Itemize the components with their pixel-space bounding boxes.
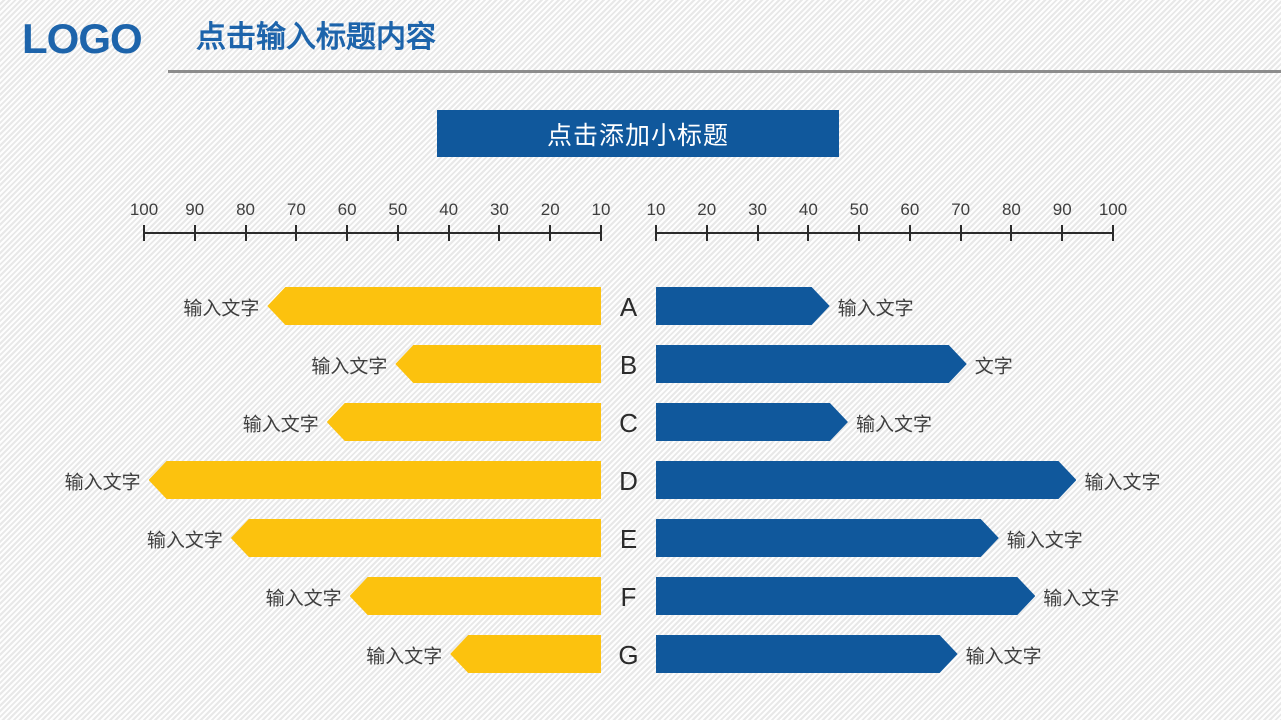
chart-row: 输入文字F输入文字: [0, 568, 1281, 626]
chart-row: 输入文字A输入文字: [0, 278, 1281, 336]
bar-left[interactable]: [395, 345, 601, 383]
subtitle-banner[interactable]: 点击添加小标题: [437, 110, 839, 157]
category-letter: F: [601, 568, 656, 626]
bar-right-label: 输入文字: [1007, 526, 1083, 553]
bar-right[interactable]: [656, 345, 967, 383]
left-axis-line: [144, 232, 601, 234]
row-right-side: 输入文字: [656, 394, 1281, 452]
row-left-side: 输入文字: [0, 510, 601, 568]
left-axis-tick-label: 60: [338, 200, 357, 220]
bar-right[interactable]: [656, 577, 1035, 615]
row-right-side: 输入文字: [656, 452, 1281, 510]
right-axis-tick: [909, 225, 911, 241]
right-axis-tick-label: 90: [1053, 200, 1072, 220]
chart-row: 输入文字E输入文字: [0, 510, 1281, 568]
bar-right-label: 输入文字: [966, 642, 1042, 669]
page-title: 点击输入标题内容: [196, 20, 436, 56]
left-axis: 100908070605040302010: [144, 200, 601, 245]
row-left-side: 输入文字: [0, 278, 601, 336]
right-axis-tick: [1010, 225, 1012, 241]
subtitle-banner-label: 点击添加小标题: [547, 116, 729, 152]
right-axis-tick: [655, 225, 657, 241]
bar-left[interactable]: [231, 519, 601, 557]
bar-left-label: 输入文字: [266, 584, 342, 611]
row-right-side: 输入文字: [656, 278, 1281, 336]
page-header: LOGO 点击输入标题内容: [0, 0, 1281, 80]
left-axis-tick: [600, 225, 602, 241]
bar-right[interactable]: [656, 635, 958, 673]
left-axis-tick-label: 30: [490, 200, 509, 220]
bar-right-label: 文字: [975, 352, 1013, 379]
bar-right[interactable]: [656, 461, 1076, 499]
category-letter: G: [601, 626, 656, 684]
right-axis-tick-label: 60: [900, 200, 919, 220]
chart-row: 输入文字B文字: [0, 336, 1281, 394]
right-axis-line: [656, 232, 1113, 234]
left-axis-tick: [194, 225, 196, 241]
left-axis-tick-label: 20: [541, 200, 560, 220]
bar-right[interactable]: [656, 287, 830, 325]
left-axis-tick: [397, 225, 399, 241]
bar-right-label: 输入文字: [1084, 468, 1160, 495]
left-axis-tick-label: 80: [236, 200, 255, 220]
bar-left-label: 输入文字: [311, 352, 387, 379]
category-letter: C: [601, 394, 656, 452]
bar-left[interactable]: [327, 403, 601, 441]
row-left-side: 输入文字: [0, 452, 601, 510]
row-right-side: 输入文字: [656, 568, 1281, 626]
bar-right[interactable]: [656, 403, 848, 441]
bar-left[interactable]: [350, 577, 601, 615]
tornado-chart-rows: 输入文字A输入文字输入文字B文字输入文字C输入文字输入文字D输入文字输入文字E输…: [0, 278, 1281, 684]
left-axis-labels: 100908070605040302010: [144, 200, 601, 224]
right-axis-tick-label: 40: [799, 200, 818, 220]
row-left-side: 输入文字: [0, 626, 601, 684]
right-axis-tick: [1061, 225, 1063, 241]
chart-row: 输入文字G输入文字: [0, 626, 1281, 684]
bar-right-label: 输入文字: [856, 410, 932, 437]
left-axis-tick-label: 100: [130, 200, 158, 220]
right-axis-tick: [807, 225, 809, 241]
right-axis-tick: [706, 225, 708, 241]
chart-row: 输入文字D输入文字: [0, 452, 1281, 510]
left-axis-tick: [498, 225, 500, 241]
category-letter: A: [601, 278, 656, 336]
left-axis-tick: [295, 225, 297, 241]
right-axis-tick: [960, 225, 962, 241]
bar-left[interactable]: [267, 287, 601, 325]
category-letter: B: [601, 336, 656, 394]
right-axis-tick-label: 30: [748, 200, 767, 220]
left-axis-tick: [549, 225, 551, 241]
right-axis-tick-label: 50: [850, 200, 869, 220]
bar-left-label: 输入文字: [243, 410, 319, 437]
left-axis-tick: [346, 225, 348, 241]
bar-right-label: 输入文字: [838, 294, 914, 321]
bar-right-label: 输入文字: [1043, 584, 1119, 611]
right-axis-tick-label: 20: [697, 200, 716, 220]
bar-right[interactable]: [656, 519, 999, 557]
bar-left[interactable]: [149, 461, 601, 499]
left-axis-tick-label: 10: [592, 200, 611, 220]
right-axis-tick-label: 70: [951, 200, 970, 220]
left-axis-tick: [245, 225, 247, 241]
bar-left-label: 输入文字: [366, 642, 442, 669]
right-axis-tick: [858, 225, 860, 241]
left-axis-tick-label: 40: [439, 200, 458, 220]
right-axis-tick-label: 100: [1099, 200, 1127, 220]
category-letter: E: [601, 510, 656, 568]
category-letter: D: [601, 452, 656, 510]
bar-left-label: 输入文字: [183, 294, 259, 321]
row-right-side: 输入文字: [656, 510, 1281, 568]
row-left-side: 输入文字: [0, 394, 601, 452]
left-axis-tick-label: 90: [185, 200, 204, 220]
row-left-side: 输入文字: [0, 568, 601, 626]
right-axis: 102030405060708090100: [656, 200, 1113, 245]
right-axis-labels: 102030405060708090100: [656, 200, 1113, 224]
left-axis-tick-label: 70: [287, 200, 306, 220]
left-axis-tick-label: 50: [388, 200, 407, 220]
header-divider: [168, 70, 1281, 73]
bar-left[interactable]: [450, 635, 601, 673]
row-right-side: 文字: [656, 336, 1281, 394]
bar-left-label: 输入文字: [147, 526, 223, 553]
right-axis-tick-label: 10: [647, 200, 666, 220]
bar-left-label: 输入文字: [65, 468, 141, 495]
left-axis-tick: [448, 225, 450, 241]
chart-row: 输入文字C输入文字: [0, 394, 1281, 452]
logo: LOGO: [22, 18, 142, 60]
row-left-side: 输入文字: [0, 336, 601, 394]
left-axis-tick: [143, 225, 145, 241]
right-axis-tick: [1112, 225, 1114, 241]
row-right-side: 输入文字: [656, 626, 1281, 684]
right-axis-tick: [757, 225, 759, 241]
right-axis-tick-label: 80: [1002, 200, 1021, 220]
